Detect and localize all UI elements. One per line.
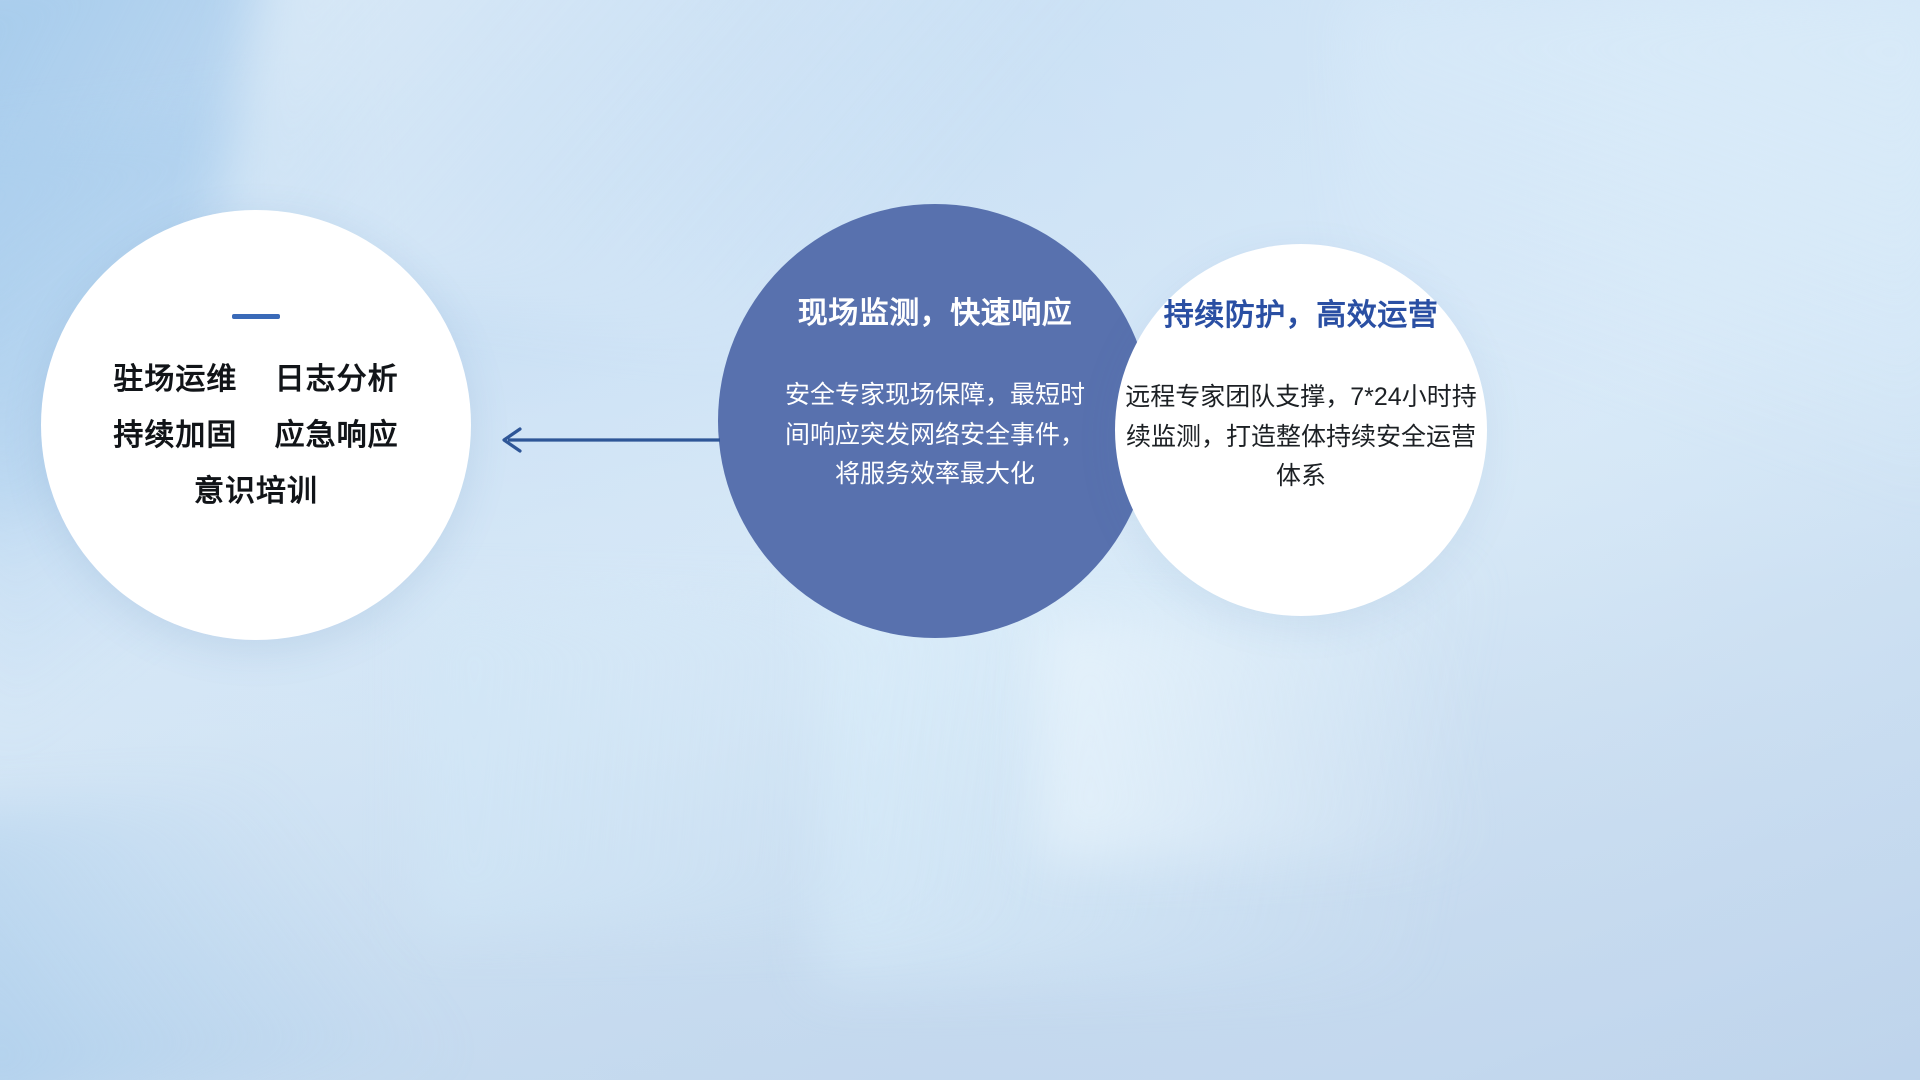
flow-arrow-left-icon — [490, 418, 722, 462]
list-item: 持续加固 应急响应 — [113, 421, 398, 451]
right-circle-body-text: 远程专家团队支撑，7*24小时持续监测，打造整体持续安全运营体系 — [1121, 378, 1481, 497]
middle-highlight-circle: 现场监测，快速响应 安全专家现场保障，最短时间响应突发网络安全事件，将服务效率最… — [718, 204, 1152, 638]
left-service-circle: 驻场运维 日志分析 持续加固 应急响应 意识培训 — [41, 210, 471, 640]
middle-circle-body-text: 安全专家现场保障，最短时间响应突发网络安全事件，将服务效率最大化 — [785, 376, 1085, 495]
right-circle-heading: 持续防护，高效运营 — [1164, 290, 1439, 334]
list-item: 意识培训 — [113, 477, 398, 507]
accent-dash-icon — [232, 314, 280, 319]
middle-circle-heading: 现场监测，快速响应 — [798, 288, 1073, 332]
left-circle-service-list: 驻场运维 日志分析 持续加固 应急响应 意识培训 — [113, 365, 398, 507]
list-item: 驻场运维 日志分析 — [113, 365, 398, 395]
right-service-circle: 持续防护，高效运营 远程专家团队支撑，7*24小时持续监测，打造整体持续安全运营… — [1115, 244, 1487, 616]
